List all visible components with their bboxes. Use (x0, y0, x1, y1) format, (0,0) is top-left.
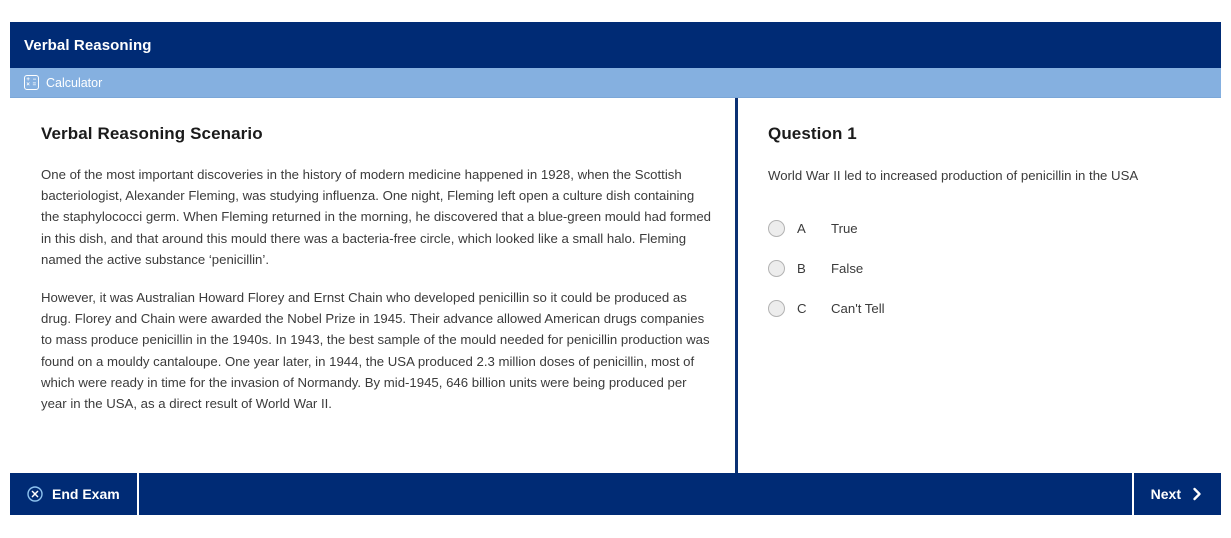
calculator-icon-bottom-row: × = (26, 83, 36, 88)
next-button[interactable]: Next (1132, 473, 1221, 515)
calculator-button[interactable]: + − × = Calculator (24, 75, 102, 90)
x-circle-icon (27, 486, 43, 502)
option-text-a: True (831, 221, 858, 236)
radio-button-a[interactable] (768, 220, 785, 237)
next-label: Next (1151, 486, 1181, 502)
end-exam-label: End Exam (52, 486, 120, 502)
answer-option-b[interactable]: B False (760, 256, 1199, 280)
radio-button-b[interactable] (768, 260, 785, 277)
scenario-paragraph-1: One of the most important discoveries in… (41, 164, 713, 270)
content-area: Verbal Reasoning Scenario One of the mos… (10, 98, 1221, 473)
question-heading: Question 1 (768, 124, 1199, 144)
toolbar: + − × = Calculator (10, 68, 1221, 98)
option-text-b: False (831, 261, 863, 276)
calculator-label: Calculator (46, 76, 102, 90)
footer-bar: End Exam Next (10, 473, 1221, 515)
option-letter-c: C (797, 301, 831, 316)
scenario-passage: One of the most important discoveries in… (32, 164, 713, 414)
scenario-heading: Verbal Reasoning Scenario (41, 124, 713, 144)
page-title: Verbal Reasoning (24, 37, 151, 54)
option-text-c: Can't Tell (831, 301, 885, 316)
calculator-icon: + − × = (24, 75, 39, 90)
chevron-right-icon (1190, 487, 1204, 501)
exam-window: Verbal Reasoning + − × = Calculator Verb… (10, 22, 1221, 515)
scenario-paragraph-2: However, it was Australian Howard Florey… (41, 287, 713, 414)
answer-option-a[interactable]: A True (760, 216, 1199, 240)
answer-options: A True B False C Can't Tell (760, 216, 1199, 320)
option-letter-a: A (797, 221, 831, 236)
question-stem: World War II led to increased production… (768, 166, 1199, 186)
title-bar: Verbal Reasoning (10, 22, 1221, 68)
radio-button-c[interactable] (768, 300, 785, 317)
answer-option-c[interactable]: C Can't Tell (760, 296, 1199, 320)
question-pane: Question 1 World War II led to increased… (738, 98, 1221, 473)
end-exam-button[interactable]: End Exam (10, 473, 139, 515)
option-letter-b: B (797, 261, 831, 276)
scenario-pane: Verbal Reasoning Scenario One of the mos… (10, 98, 735, 473)
